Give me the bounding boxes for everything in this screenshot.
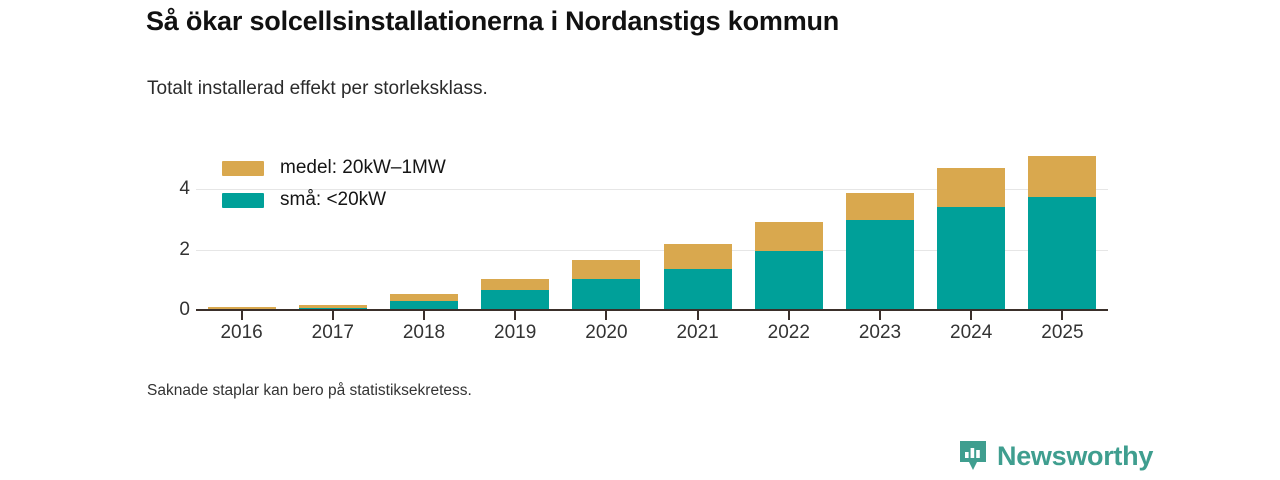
legend-item[interactable]: medel: 20kW–1MW [222,152,446,184]
bar-segment-sma[interactable] [755,251,823,310]
bar-chart-pin-icon [958,440,988,472]
chart-legend: medel: 20kW–1MWsmå: <20kW [222,152,446,216]
chart-page: Så ökar solcellsinstallationerna i Norda… [0,0,1280,480]
bar-segment-sma[interactable] [481,290,549,310]
bar-segment-medel[interactable] [846,193,914,220]
x-axis-tick-label-2023: 2023 [859,322,901,344]
bar-segment-medel[interactable] [390,294,458,301]
brand-name: Newsworthy [997,441,1153,472]
x-axis-tick [332,311,334,320]
x-axis-tick [1061,311,1063,320]
x-axis-labels: 2016201720182019202020212022202320242025 [196,322,1108,348]
footnote: Saknade staplar kan bero på statistiksek… [147,382,472,400]
bar-2023[interactable] [846,193,914,310]
x-axis-tick [514,311,516,320]
x-axis-tick-label-2016: 2016 [220,322,262,344]
bar-2025[interactable] [1028,156,1096,310]
bar-2019[interactable] [481,279,549,310]
page-subtitle: Totalt installerad effekt per storlekskl… [147,78,488,100]
page-title: Så ökar solcellsinstallationerna i Norda… [146,6,839,37]
y-axis-tick-label: 0 [150,299,190,321]
bar-segment-sma[interactable] [937,207,1005,310]
x-axis-tick-label-2018: 2018 [403,322,445,344]
x-axis-tick [423,311,425,320]
bar-segment-medel[interactable] [755,222,823,250]
bar-2020[interactable] [572,260,640,310]
legend-swatch-icon [222,161,264,176]
bar-2024[interactable] [937,168,1005,310]
bar-segment-medel[interactable] [481,279,549,290]
y-axis-tick-label: 4 [150,178,190,200]
bar-2022[interactable] [755,222,823,310]
legend-item-label: små: <20kW [280,189,386,211]
bar-2021[interactable] [664,244,732,310]
bar-segment-medel[interactable] [937,168,1005,207]
x-axis-tick-label-2025: 2025 [1041,322,1083,344]
x-axis-tick [241,311,243,320]
x-axis-tick-label-2022: 2022 [768,322,810,344]
y-axis-labels: 024 [150,150,190,310]
bar-segment-sma[interactable] [572,279,640,310]
bar-segment-sma[interactable] [664,269,732,310]
bar-segment-medel[interactable] [1028,156,1096,197]
x-axis-tick [970,311,972,320]
x-axis-tick-label-2024: 2024 [950,322,992,344]
x-axis-tick [697,311,699,320]
y-axis-tick-label: 2 [150,239,190,261]
x-axis-tick [879,311,881,320]
x-axis-tick-label-2020: 2020 [585,322,627,344]
x-axis-tick-label-2017: 2017 [312,322,354,344]
x-axis-ticks [196,311,1108,321]
legend-item-label: medel: 20kW–1MW [280,157,446,179]
legend-item[interactable]: små: <20kW [222,184,446,216]
bar-segment-sma[interactable] [1028,197,1096,310]
bar-segment-sma[interactable] [846,220,914,310]
x-axis-tick-label-2021: 2021 [676,322,718,344]
bar-segment-medel[interactable] [664,244,732,269]
legend-swatch-icon [222,193,264,208]
x-axis-tick [605,311,607,320]
newsworthy-logo: Newsworthy [958,440,1153,472]
x-axis-tick-label-2019: 2019 [494,322,536,344]
bar-segment-medel[interactable] [572,260,640,279]
x-axis-tick [788,311,790,320]
bar-2018[interactable] [390,294,458,310]
